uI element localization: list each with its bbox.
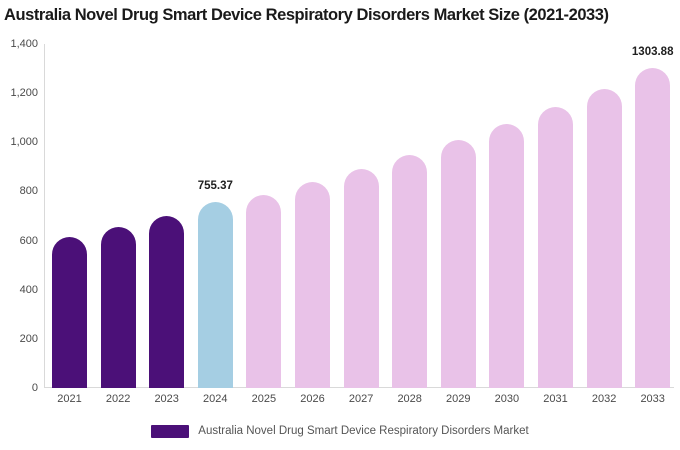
- bar-group: [441, 44, 476, 388]
- plot-area: 755.371303.88: [44, 44, 674, 388]
- legend-swatch: [151, 425, 189, 438]
- y-axis-tick: 1,400: [0, 39, 38, 50]
- bar[interactable]: [52, 237, 87, 388]
- bar-group: [392, 44, 427, 388]
- bar-group: [149, 44, 184, 388]
- bar[interactable]: [198, 202, 233, 388]
- x-axis-tick: 2033: [635, 392, 670, 406]
- bar-group: [538, 44, 573, 388]
- bar[interactable]: [489, 124, 524, 388]
- y-axis-tick: 800: [0, 186, 38, 197]
- bar[interactable]: [635, 68, 670, 388]
- bar[interactable]: [538, 107, 573, 388]
- bar[interactable]: [441, 140, 476, 388]
- y-axis-tick: 200: [0, 334, 38, 345]
- x-axis-tick: 2022: [101, 392, 136, 406]
- y-axis-tick: 600: [0, 236, 38, 247]
- legend-label: Australia Novel Drug Smart Device Respir…: [198, 425, 528, 438]
- bar[interactable]: [392, 155, 427, 388]
- bar[interactable]: [101, 227, 136, 388]
- bar[interactable]: [246, 195, 281, 388]
- y-axis-tick: 400: [0, 285, 38, 296]
- y-axis-tick: 1,200: [0, 88, 38, 99]
- y-axis-tick-labels: 02004006008001,0001,2001,400: [0, 44, 38, 388]
- bars-layer: 755.371303.88: [44, 44, 674, 388]
- bar-group: [587, 44, 622, 388]
- x-axis-tick: 2025: [246, 392, 281, 406]
- bar[interactable]: [344, 169, 379, 388]
- x-axis-tick: 2032: [587, 392, 622, 406]
- bar-group: 755.37: [198, 44, 233, 388]
- chart-title: Australia Novel Drug Smart Device Respir…: [4, 4, 680, 26]
- bar-chart: Australia Novel Drug Smart Device Respir…: [0, 0, 680, 450]
- bar-group: [246, 44, 281, 388]
- y-axis-tick: 0: [0, 383, 38, 394]
- x-axis-tick: 2031: [538, 392, 573, 406]
- bar-group: 1303.88: [635, 44, 670, 388]
- bar[interactable]: [295, 182, 330, 388]
- bar-group: [489, 44, 524, 388]
- y-axis-tick: 1,000: [0, 137, 38, 148]
- x-axis-tick: 2029: [441, 392, 476, 406]
- chart-legend: Australia Novel Drug Smart Device Respir…: [0, 425, 680, 438]
- x-axis-tick: 2023: [149, 392, 184, 406]
- x-axis-tick: 2027: [344, 392, 379, 406]
- x-axis-tick: 2026: [295, 392, 330, 406]
- bar-value-label: 755.37: [198, 180, 233, 192]
- bar-group: [295, 44, 330, 388]
- x-axis-tick: 2024: [198, 392, 233, 406]
- bar[interactable]: [149, 216, 184, 388]
- x-axis-tick-labels: 2021202220232024202520262027202820292030…: [44, 392, 674, 408]
- bar-value-label: 1303.88: [632, 46, 674, 58]
- bar[interactable]: [587, 89, 622, 388]
- x-axis-tick: 2021: [52, 392, 87, 406]
- x-axis-tick: 2028: [392, 392, 427, 406]
- bar-group: [344, 44, 379, 388]
- bar-group: [101, 44, 136, 388]
- x-axis-tick: 2030: [489, 392, 524, 406]
- bar-group: [52, 44, 87, 388]
